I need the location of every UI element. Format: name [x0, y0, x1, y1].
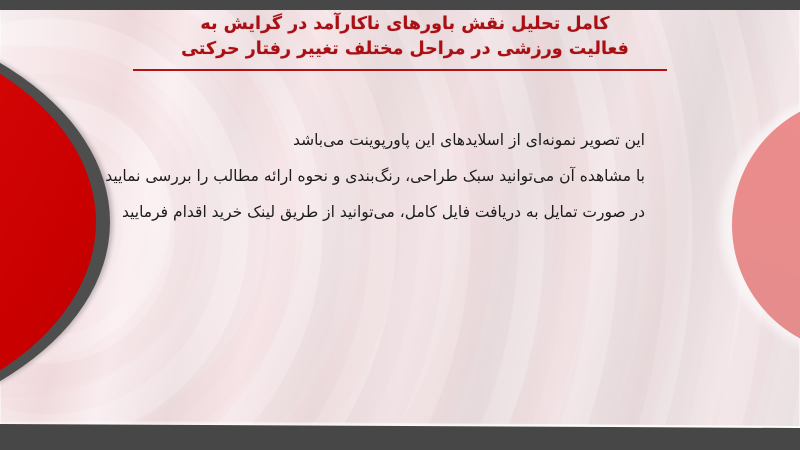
presentation-slide: کامل تحلیل نقش باورهای ناکارآمد در گرایش… [0, 0, 800, 450]
body-line-1: این تصویر نمونه‌ای از اسلایدهای این پاور… [45, 122, 645, 158]
bottom-frame-bar [0, 424, 800, 450]
slide-title-line-2: فعالیت ورزشی در مراحل مختلف تغییر رفتار … [95, 37, 715, 62]
title-underline-rule [133, 69, 667, 71]
slide-title: کامل تحلیل نقش باورهای ناکارآمد در گرایش… [95, 12, 715, 62]
body-line-3: در صورت تمایل به دریافت فایل کامل، می‌تو… [45, 194, 645, 230]
body-line-2: با مشاهده آن می‌توانید سبک طراحی، رنگ‌بن… [45, 158, 645, 194]
slide-body-text: این تصویر نمونه‌ای از اسلایدهای این پاور… [45, 122, 645, 230]
top-frame-bar [0, 0, 800, 10]
slide-title-line-1: کامل تحلیل نقش باورهای ناکارآمد در گرایش… [95, 12, 715, 37]
